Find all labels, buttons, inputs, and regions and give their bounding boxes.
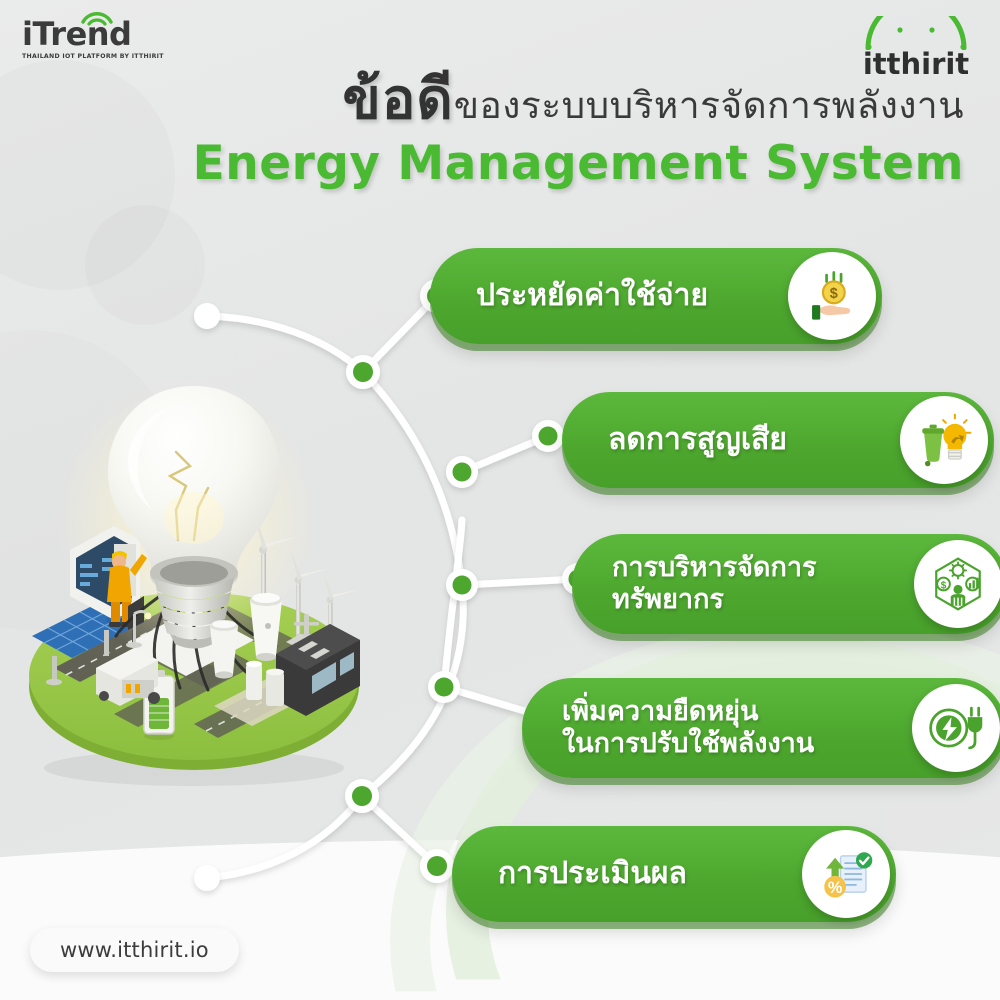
svg-text:$: $: [830, 286, 838, 302]
power-plug-lightning-icon: [927, 699, 985, 757]
hexagon-resource-management-icon: $: [929, 555, 987, 613]
svg-text:%: %: [828, 879, 843, 897]
benefit-pill-4[interactable]: เพิ่มความยืดหยุ่น ในการปรับใช้พลังงาน: [522, 678, 1000, 778]
benefit-label-1: ประหยัดค่าใช้จ่าย: [476, 278, 788, 313]
benefit-badge-4: [912, 684, 1000, 772]
benefit-label-3-line2: ทรัพยากร: [612, 584, 914, 616]
website-url-text: www.itthirit.io: [60, 938, 209, 962]
isometric-energy-illustration: [18, 368, 370, 786]
connector-endpoint: [194, 865, 220, 891]
document-percent-check-icon: %: [817, 845, 875, 903]
benefit-label-3: การบริหารจัดการ ทรัพยากร: [612, 552, 914, 616]
connector-endpoint: [194, 303, 220, 329]
hand-holding-dollar-coin-icon: $: [803, 267, 861, 325]
benefit-badge-5: %: [802, 830, 890, 918]
infographic-canvas: iTrend THAILAND IOT PLATFORM BY ITTHIRIT…: [0, 0, 1000, 1000]
benefit-badge-1: $: [788, 252, 876, 340]
website-url-pill[interactable]: www.itthirit.io: [30, 928, 239, 972]
benefit-pill-3[interactable]: การบริหารจัดการ ทรัพยากร $: [572, 534, 1000, 634]
benefit-pill-5[interactable]: การประเมินผล %: [452, 826, 896, 922]
svg-text:$: $: [941, 581, 947, 592]
recycle-bin-lightbulb-icon: [915, 411, 973, 469]
benefit-badge-2: [900, 396, 988, 484]
benefit-label-4-line1: เพิ่มความยืดหยุ่น: [562, 696, 758, 727]
benefit-pill-2[interactable]: ลดการสูญเสีย: [562, 392, 994, 488]
benefit-label-5: การประเมินผล: [498, 856, 802, 891]
benefit-label-3-line1: การบริหารจัดการ: [612, 552, 816, 583]
benefit-badge-3: $: [914, 540, 1000, 628]
benefit-label-4-line2: ในการปรับใช้พลังงาน: [562, 728, 912, 760]
benefit-label-4: เพิ่มความยืดหยุ่น ในการปรับใช้พลังงาน: [562, 696, 912, 760]
benefit-label-2: ลดการสูญเสีย: [608, 422, 900, 457]
benefit-pill-1[interactable]: ประหยัดค่าใช้จ่าย $: [430, 248, 882, 344]
